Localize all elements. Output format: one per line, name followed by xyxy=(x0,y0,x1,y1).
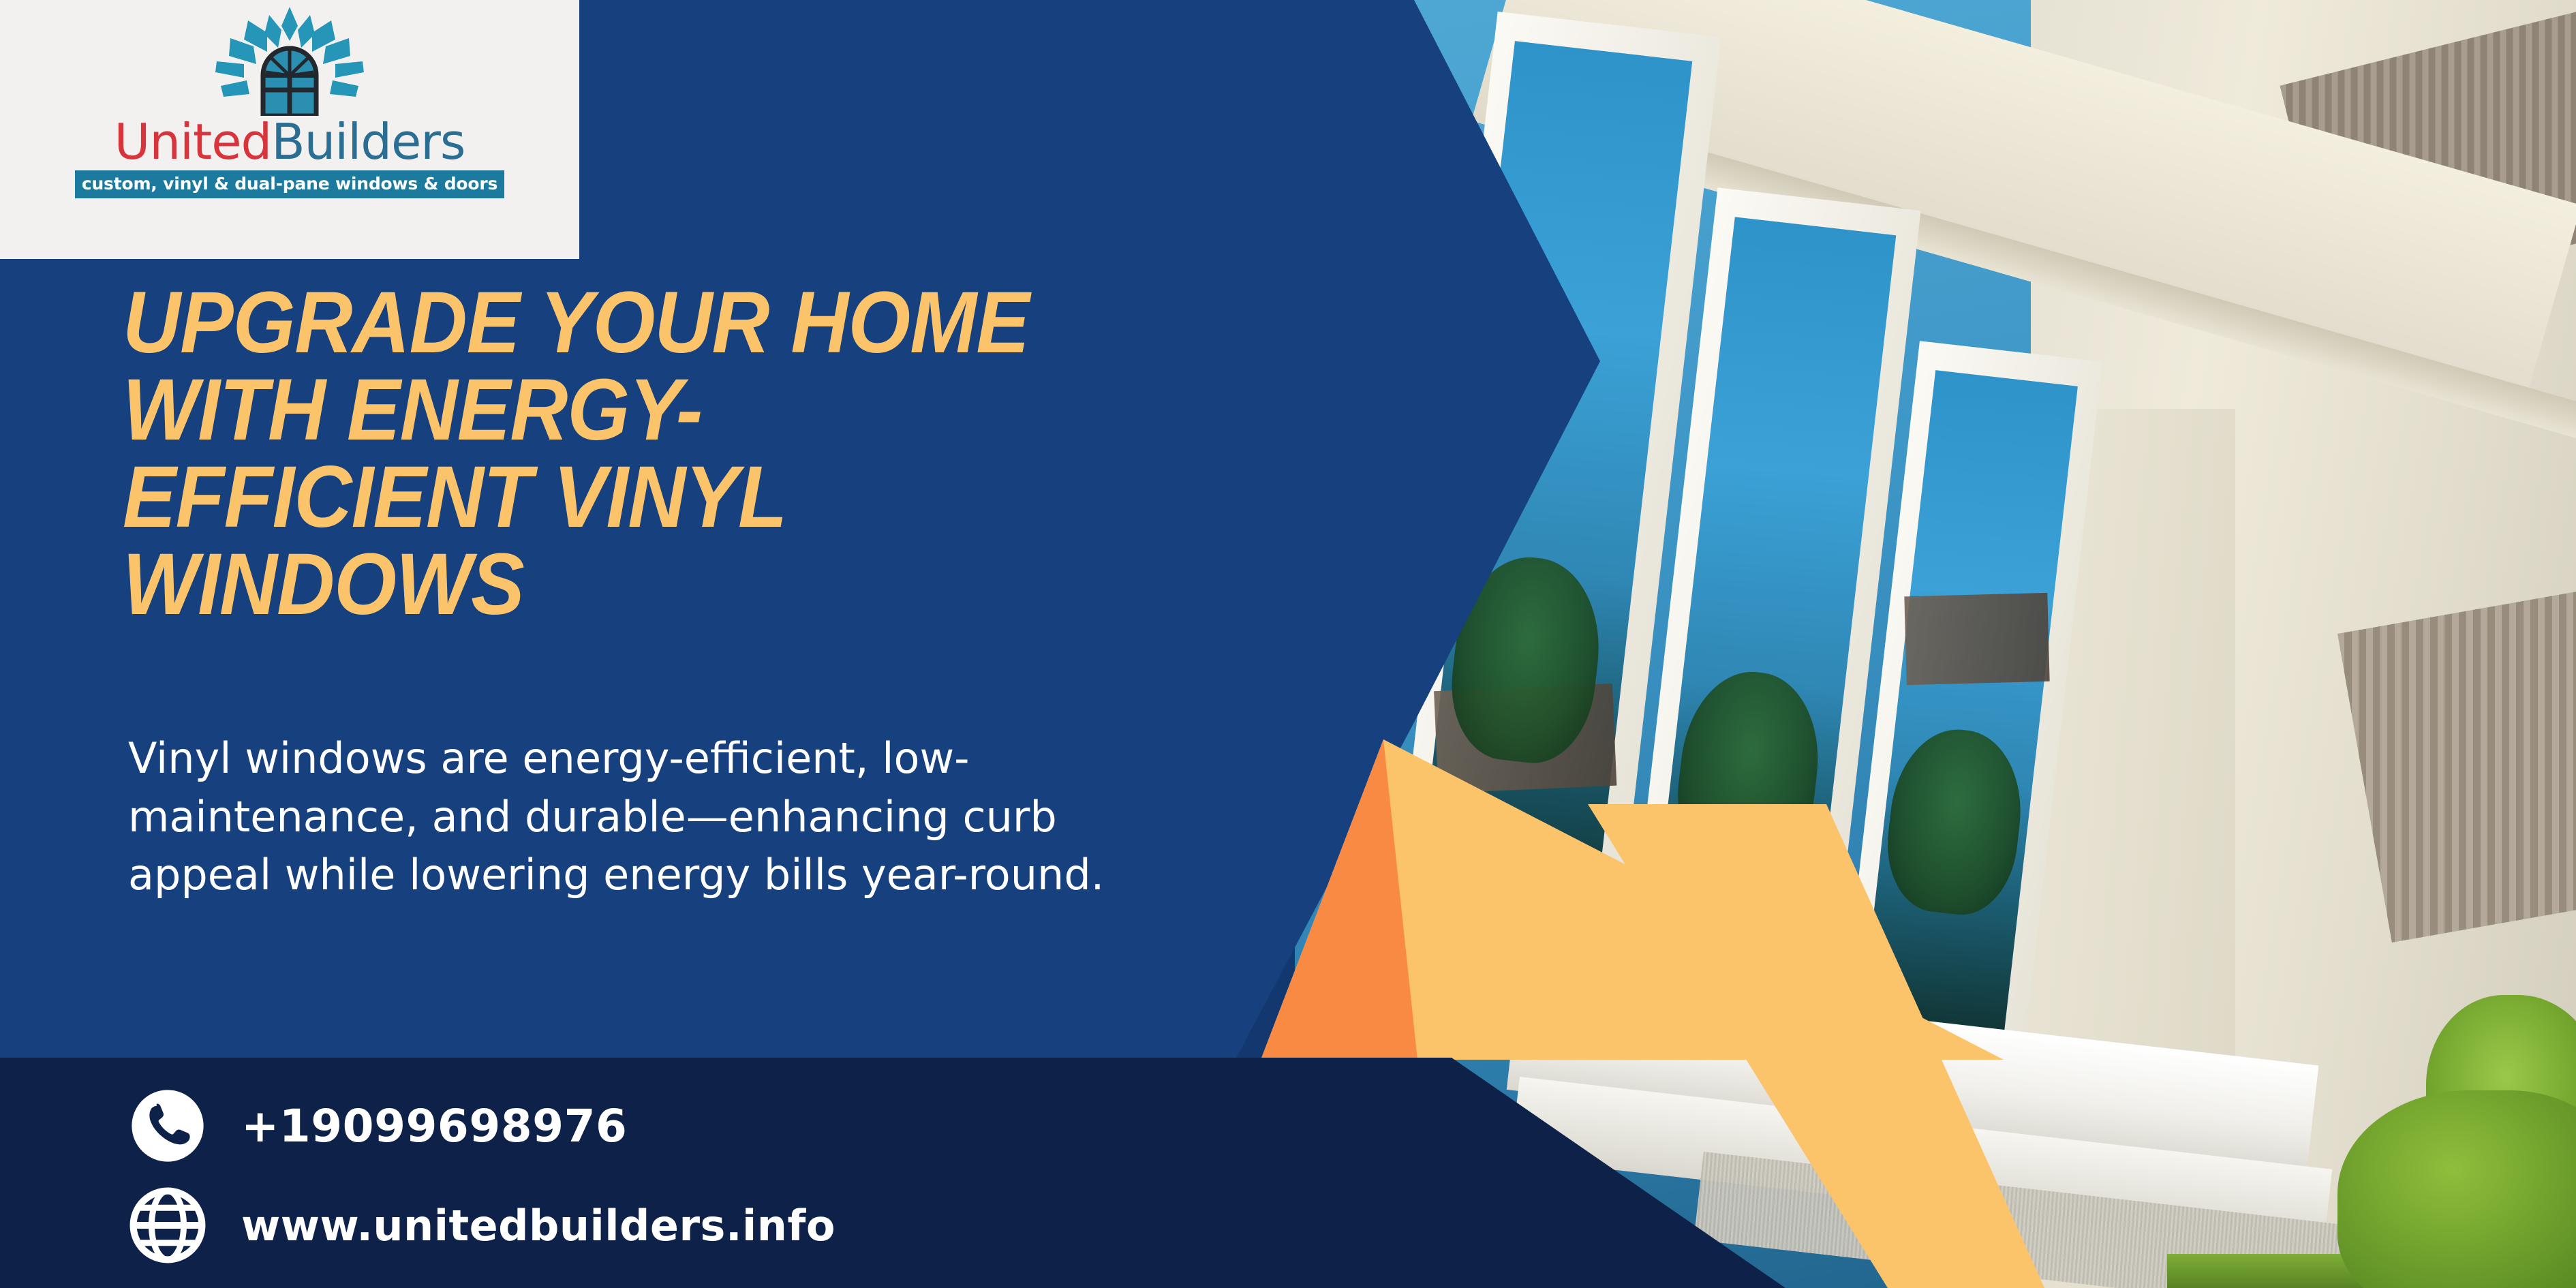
hero-headline: UPGRADE YOUR HOME WITH ENERGY- EFFICIENT… xyxy=(123,279,1226,628)
logo-word-builders: Builders xyxy=(271,113,465,170)
logo-word-united: United xyxy=(114,113,272,170)
headline-line-4: WINDOWS xyxy=(123,541,1226,628)
banner-canvas: UnitedBuilders custom, vinyl & dual-pane… xyxy=(0,0,2576,1288)
arched-window-sunburst-icon xyxy=(204,5,375,116)
contact-website-row[interactable]: www.unitedbuilders.info xyxy=(129,1187,835,1263)
contact-website-url: www.unitedbuilders.info xyxy=(241,1201,835,1251)
logo-wordmark: UnitedBuilders xyxy=(114,117,465,166)
hero-subtext: Vinyl windows are energy-efficient, low-… xyxy=(128,729,1164,904)
logo-tagline: custom, vinyl & dual-pane windows & door… xyxy=(75,170,504,198)
contact-phone-number: +19099698976 xyxy=(241,1100,627,1152)
headline-line-2: WITH ENERGY- xyxy=(123,367,1226,454)
headline-line-3: EFFICIENT VINYL xyxy=(123,454,1226,541)
contact-phone-row[interactable]: +19099698976 xyxy=(129,1088,627,1164)
brand-logo[interactable]: UnitedBuilders custom, vinyl & dual-pane… xyxy=(0,0,579,259)
phone-icon xyxy=(129,1088,206,1164)
photo-reflection-roof-3 xyxy=(1904,593,2049,685)
globe-icon xyxy=(129,1187,206,1263)
headline-line-1: UPGRADE YOUR HOME xyxy=(123,279,1226,367)
